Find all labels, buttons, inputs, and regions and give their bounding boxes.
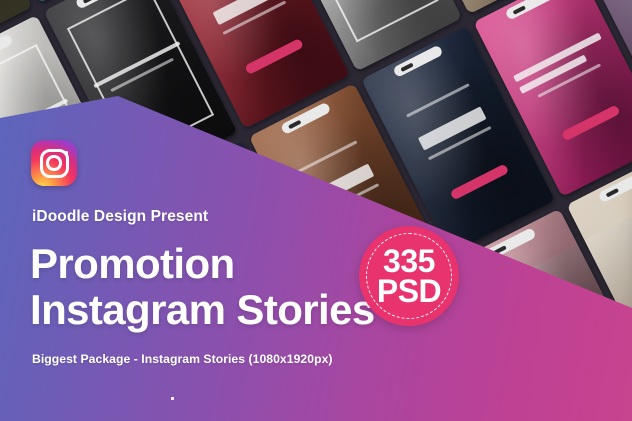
package-subtitle: Biggest Package - Instagram Stories (108… xyxy=(32,352,333,366)
headline-line-2: Instagram Stories xyxy=(30,289,375,331)
instagram-icon xyxy=(31,140,77,186)
headline-line-1: Promotion xyxy=(30,243,235,285)
badge-count: 335 xyxy=(383,246,435,276)
marker-dot xyxy=(171,397,174,400)
badge-text-group: 335 PSD xyxy=(359,226,459,326)
instagram-lens xyxy=(46,155,61,170)
promo-banner: iDoodle Design Present Promotion Instagr… xyxy=(0,0,632,421)
badge-unit: PSD xyxy=(377,276,441,306)
presenter-label: iDoodle Design Present xyxy=(32,208,208,226)
psd-count-badge: 335 PSD xyxy=(359,226,459,326)
